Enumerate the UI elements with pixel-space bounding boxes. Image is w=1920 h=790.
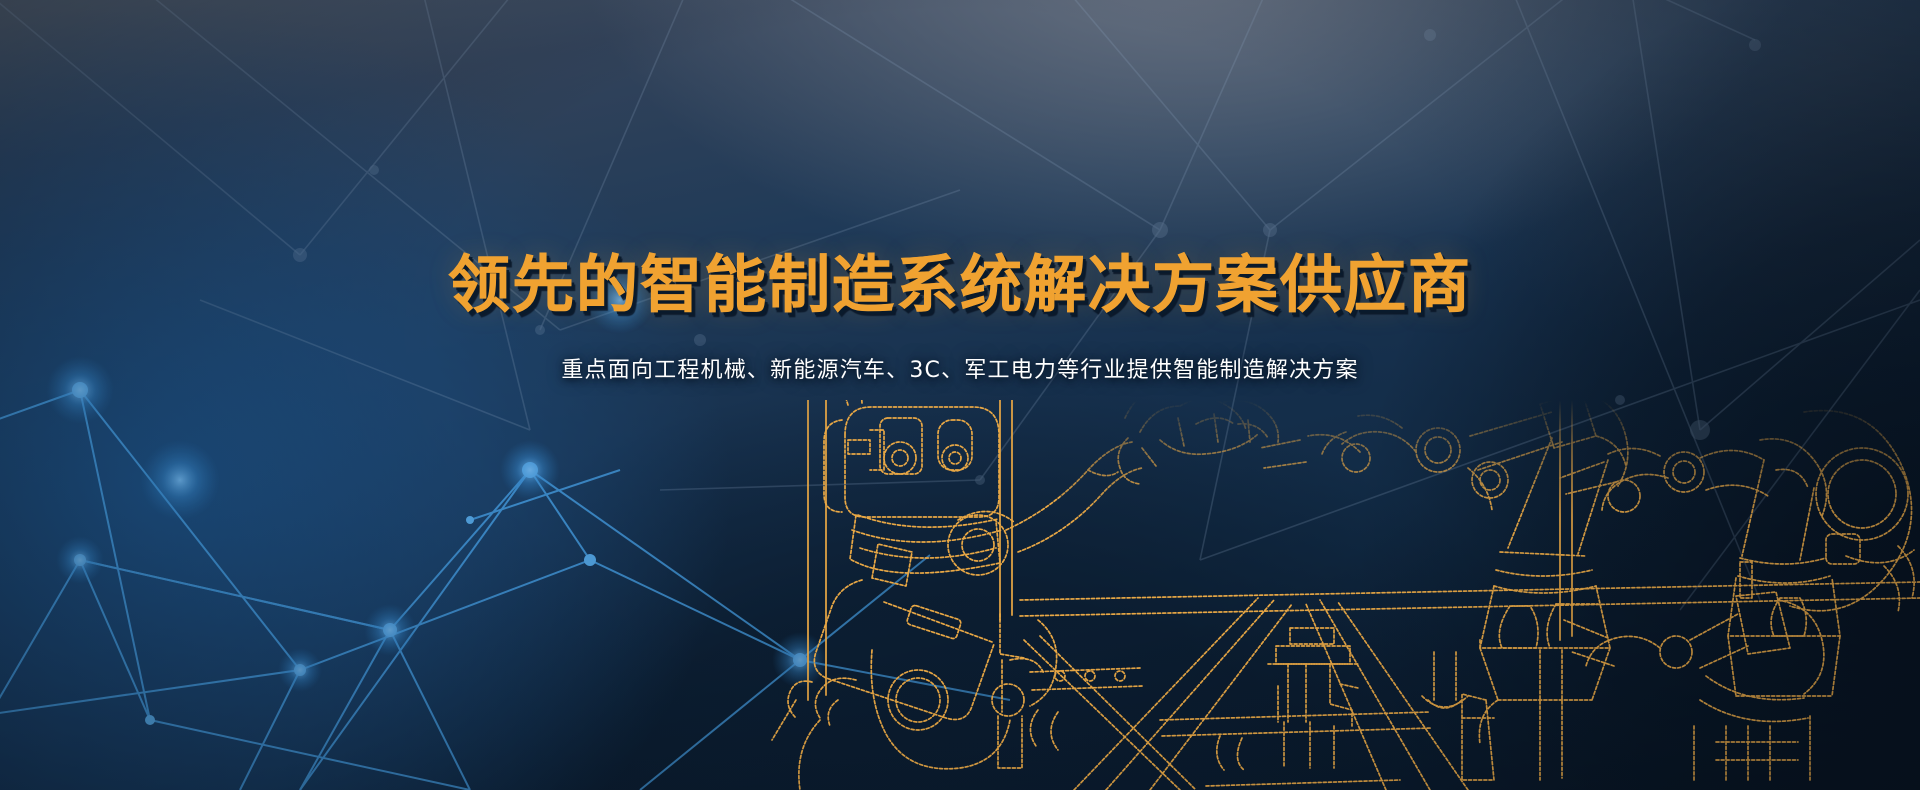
hero-copy-block: 领先的智能制造系统解决方案供应商 重点面向工程机械、新能源汽车、3C、军工电力等… bbox=[0, 250, 1920, 386]
page-title: 领先的智能制造系统解决方案供应商 bbox=[0, 250, 1920, 320]
page-subtitle: 重点面向工程机械、新能源汽车、3C、军工电力等行业提供智能制造解决方案 bbox=[0, 356, 1920, 386]
hero-vignette bbox=[0, 0, 1920, 790]
hero-banner: 领先的智能制造系统解决方案供应商 重点面向工程机械、新能源汽车、3C、军工电力等… bbox=[0, 0, 1920, 790]
